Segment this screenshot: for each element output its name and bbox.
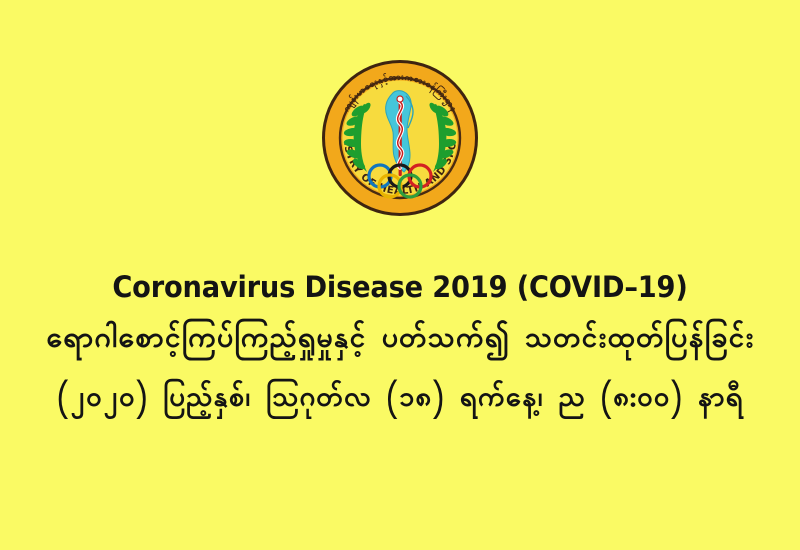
ministry-emblem: ကျန်းမာရေးနှင့်အားကစားဝန်ကြီးဌာန MINISTR… (320, 38, 480, 238)
press-release-poster: ကျန်းမာရေးနှင့်အားကစားဝန်ကြီးဌာန MINISTR… (0, 0, 800, 550)
announcement-subject-line: ရောဂါစောင့်ကြပ်ကြည့်ရှုမှုနှင့် ပတ်သက်၍ … (0, 314, 800, 366)
announcement-text-block: Coronavirus Disease 2019 (COVID–19) ရောဂ… (0, 272, 800, 426)
title-english: Coronavirus Disease 2019 (COVID–19) (24, 272, 776, 304)
seal-bottom-text-alt: MINISTRY OF HEALTH AND SPORTS (320, 238, 321, 239)
announcement-datetime-line: (၂၀၂၀) ပြည့်နှစ်၊ သြဂုတ်လ (၁၈) ရက်နေ့၊ ည… (0, 365, 800, 425)
ministry-seal-icon: ကျန်းမာရေးနှင့်အားကစားဝန်ကြီးဌာန MINISTR… (320, 38, 480, 238)
seal-top-text-alt: ကျန်းမာရေးနှင့်အားကစားဝန်ကြီးဌာန (320, 238, 321, 239)
